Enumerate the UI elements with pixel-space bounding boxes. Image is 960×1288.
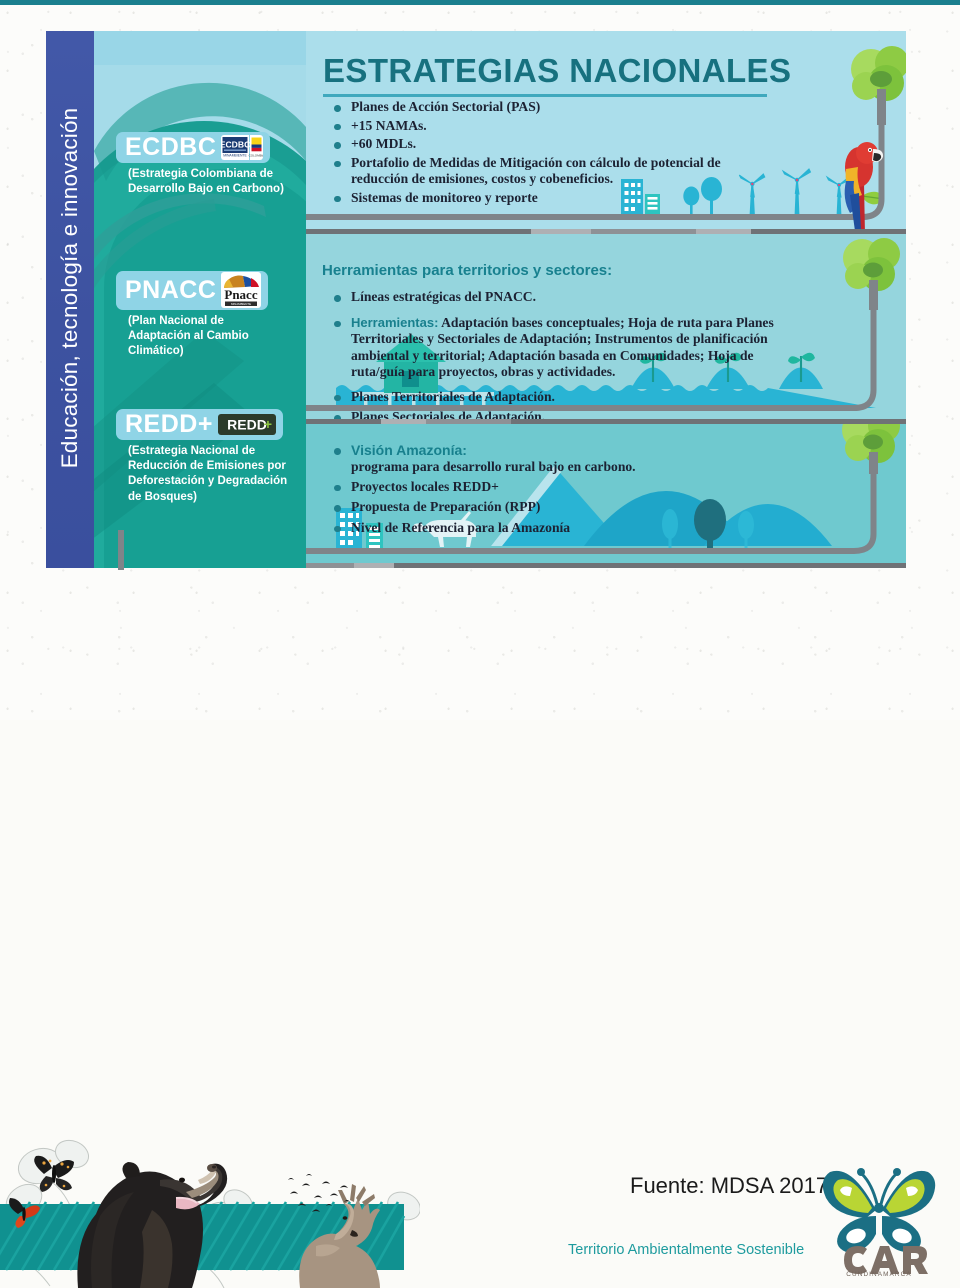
tagline-label: Territorio Ambientalmente Sostenible: [568, 1242, 804, 1258]
infographic-panel: Educación, tecnología e innovación: [46, 31, 906, 568]
pnacc-pill: PNACC Pnacc MINAMBIENTE: [116, 271, 268, 310]
ecdbc-pill: ECDBC ECDBC MINAMBIENTE: [116, 132, 270, 163]
ground-line-1-seg-a: [531, 229, 591, 234]
pnacc-heading: Herramientas para territorios y sectores…: [322, 262, 612, 279]
section-ecdbc: ESTRATEGIAS NACIONALES Planes de Acción …: [306, 31, 906, 234]
list-item: Sistemas de monitoreo y reporte: [331, 190, 761, 207]
panel-stub: [118, 530, 124, 570]
pnacc-logo: Pnacc MINAMBIENTE: [221, 272, 261, 308]
list-item: Nivel de Referencia para la Amazonía: [331, 520, 731, 537]
ground-line-1-seg-c: [696, 229, 751, 234]
ground-line-2-seg-b: [426, 419, 511, 424]
strategy-column: ECDBC ECDBC MINAMBIENTE: [94, 31, 306, 568]
list-item: Propuesta de Preparación (RPP): [331, 499, 731, 516]
list-item: Líneas estratégicas del PNACC.: [331, 289, 791, 306]
reddplus-acronym: REDD+: [125, 410, 213, 438]
pnacc-bullet-list: Líneas estratégicas del PNACC. Herramien…: [331, 289, 791, 424]
svg-text:MINAMBIENTE: MINAMBIENTE: [231, 302, 251, 306]
ground-line-1-seg-b: [591, 229, 696, 234]
section-reddplus: Visión Amazonía: programa para desarroll…: [306, 424, 906, 568]
page-title: ESTRATEGIAS NACIONALES: [323, 52, 791, 90]
herramientas-label: Herramientas:: [351, 315, 438, 330]
source-label: Fuente: MDSA 2017: [630, 1173, 828, 1199]
footer: Fuente: MDSA 2017 Territorio Ambientalme…: [0, 568, 960, 720]
title-underline: [323, 94, 767, 97]
pnacc-acronym: PNACC: [125, 276, 216, 304]
strategy-item-reddplus[interactable]: REDD+ REDD + (Estrategia Nacional de Red…: [94, 409, 306, 505]
vertical-sidebar: Educación, tecnología e innovación: [46, 31, 94, 568]
content-column: ESTRATEGIAS NACIONALES Planes de Acción …: [306, 31, 906, 568]
list-item: Planes Territoriales de Adaptación.: [331, 389, 791, 406]
slide-background: Educación, tecnología e innovación: [0, 0, 960, 720]
svg-text:Pnacc: Pnacc: [225, 287, 258, 302]
strategy-item-ecdbc[interactable]: ECDBC ECDBC MINAMBIENTE: [94, 132, 306, 197]
car-cundinamarca-logo[interactable]: CUNDINAMARCA: [818, 1154, 940, 1278]
list-item: +60 MDLs.: [331, 136, 761, 153]
ecdbc-logo: ECDBC MINAMBIENTE COLOMBIA: [221, 135, 263, 160]
list-item: Proyectos locales REDD+: [331, 479, 731, 496]
top-rule: [0, 0, 960, 5]
section-pnacc: Herramientas para territorios y sectores…: [306, 234, 906, 424]
tree-icon-top: [851, 46, 906, 125]
ground-line-2-seg-a: [381, 419, 426, 424]
vision-amazonia-text: programa para desarrollo rural bajo en c…: [351, 459, 636, 474]
wildlife-photo-strip: [0, 1136, 420, 1288]
ecdbc-description: (Estrategia Colombiana de Desarrollo Baj…: [116, 163, 298, 197]
svg-text:COLOMBIA: COLOMBIA: [249, 153, 263, 157]
svg-text:+: +: [264, 416, 272, 432]
list-item: Portafolio de Medidas de Mitigación con …: [331, 155, 761, 188]
strategy-item-pnacc[interactable]: PNACC Pnacc MINAMBIENTE: [94, 271, 306, 360]
reddplus-description: (Estrategia Nacional de Reducción de Emi…: [116, 440, 294, 505]
car-logo-subtext: CUNDINAMARCA: [846, 1271, 911, 1278]
macaw-icon: [828, 123, 898, 234]
pnacc-description: (Plan Nacional de Adaptación al Cambio C…: [116, 310, 288, 360]
ecdbc-acronym: ECDBC: [125, 133, 216, 161]
svg-text:ECDBC: ECDBC: [221, 139, 250, 149]
vertical-sidebar-label: Educación, tecnología e innovación: [57, 31, 83, 558]
vision-amazonia-label: Visión Amazonía:: [351, 442, 731, 459]
reddplus-pill: REDD+ REDD +: [116, 409, 283, 440]
list-item-herramientas: Herramientas: Adaptación bases conceptua…: [331, 315, 791, 381]
reddplus-logo: REDD +: [218, 414, 276, 435]
svg-text:MINAMBIENTE: MINAMBIENTE: [224, 153, 248, 157]
list-item: +15 NAMAs.: [331, 118, 761, 135]
list-item: Planes de Acción Sectorial (PAS): [331, 99, 761, 116]
list-item-vision-amazonia: Visión Amazonía: programa para desarroll…: [331, 442, 731, 476]
ecdbc-bullet-list: Planes de Acción Sectorial (PAS) +15 NAM…: [331, 99, 761, 208]
reddplus-bullet-list: Visión Amazonía: programa para desarroll…: [331, 442, 731, 538]
svg-text:REDD: REDD: [227, 416, 267, 432]
tree-icon-bottom: [842, 424, 900, 474]
tree-icon-mid: [843, 238, 900, 310]
